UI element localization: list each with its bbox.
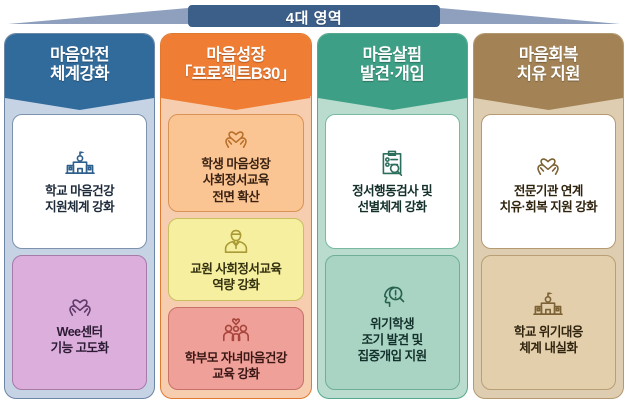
column-title-line: 마음회복 bbox=[519, 46, 578, 65]
card-label: 학부모 자녀마음건강 교육 강화 bbox=[185, 350, 287, 383]
column-header: 마음안전체계강화 bbox=[5, 34, 154, 96]
header-chevron bbox=[474, 96, 623, 110]
school-icon bbox=[531, 289, 565, 319]
card[interactable]: 교원 사회정서교육 역량 강화 bbox=[168, 218, 303, 301]
card-label: 교원 사회정서교육 역량 강화 bbox=[190, 261, 281, 294]
header-chevron bbox=[5, 96, 154, 110]
card[interactable]: 정서행동검사 및 선별체계 강화 bbox=[325, 114, 460, 249]
banner: 4대 영역 bbox=[0, 2, 628, 30]
heart-hands-icon bbox=[531, 148, 565, 178]
school-icon bbox=[63, 148, 97, 178]
card-label: 학교 위기대응 체계 내실화 bbox=[514, 324, 583, 357]
header-chevron bbox=[161, 96, 310, 110]
column-title-line: 마음성장 bbox=[206, 46, 265, 65]
header-chevron bbox=[318, 96, 467, 110]
banner-shape bbox=[0, 2, 628, 30]
column-maeum-salpim[interactable]: 정서행동검사 및 선별체계 강화위기학생 조기 발견 및 집중개입 지원마음살핌… bbox=[317, 33, 468, 399]
column-header: 마음회복치유 지원 bbox=[474, 34, 623, 96]
family-icon bbox=[219, 315, 253, 345]
card-label: 정서행동검사 및 선별체계 강화 bbox=[352, 183, 432, 216]
head-alert-search-icon bbox=[375, 281, 409, 311]
teacher-icon bbox=[219, 226, 253, 256]
column-header: 마음살핌발견·개입 bbox=[318, 34, 467, 96]
card[interactable]: 전문기관 연계 치유·회복 지원 강화 bbox=[481, 114, 616, 249]
column-title-line: 「프로젝트B30」 bbox=[176, 65, 296, 84]
column-title-line: 마음살핌 bbox=[363, 46, 422, 65]
heart-hands-icon bbox=[219, 121, 253, 151]
column-maeum-seongjang[interactable]: 학생 마음성장 사회정서교육 전면 확산교원 사회정서교육 역량 강화학부모 자… bbox=[160, 33, 311, 399]
card-label: 전문기관 연계 치유·회복 지원 강화 bbox=[500, 183, 598, 216]
card-label: 학생 마음성장 사회정서교육 전면 확산 bbox=[201, 156, 270, 205]
clipboard-search-icon bbox=[375, 148, 409, 178]
card[interactable]: Wee센터 기능 고도화 bbox=[12, 255, 147, 390]
card[interactable]: 학생 마음성장 사회정서교육 전면 확산 bbox=[168, 114, 303, 212]
card-label: 학교 마음건강 지원체계 강화 bbox=[45, 183, 114, 216]
column-maeum-anjeon[interactable]: 학교 마음건강 지원체계 강화Wee센터 기능 고도화마음안전체계강화 bbox=[4, 33, 155, 399]
column-title-line: 발견·개입 bbox=[360, 65, 424, 84]
heart-hands-icon bbox=[63, 289, 97, 319]
column-title-line: 체계강화 bbox=[50, 65, 109, 84]
infographic-root: 4대 영역 학교 마음건강 지원체계 강화Wee센터 기능 고도화마음안전체계강… bbox=[0, 0, 628, 403]
card-label: Wee센터 기능 고도화 bbox=[51, 324, 109, 357]
column-maeum-hoebok[interactable]: 전문기관 연계 치유·회복 지원 강화학교 위기대응 체계 내실화마음회복치유 … bbox=[473, 33, 624, 399]
column-container: 학교 마음건강 지원체계 강화Wee센터 기능 고도화마음안전체계강화학생 마음… bbox=[4, 33, 624, 399]
column-header: 마음성장「프로젝트B30」 bbox=[161, 34, 310, 96]
card[interactable]: 위기학생 조기 발견 및 집중개입 지원 bbox=[325, 255, 460, 390]
column-title-line: 마음안전 bbox=[50, 46, 109, 65]
card[interactable]: 학교 위기대응 체계 내실화 bbox=[481, 255, 616, 390]
card-label: 위기학생 조기 발견 및 집중개입 지원 bbox=[358, 316, 427, 365]
card[interactable]: 학부모 자녀마음건강 교육 강화 bbox=[168, 307, 303, 390]
column-title-line: 치유 지원 bbox=[517, 65, 580, 84]
card[interactable]: 학교 마음건강 지원체계 강화 bbox=[12, 114, 147, 249]
